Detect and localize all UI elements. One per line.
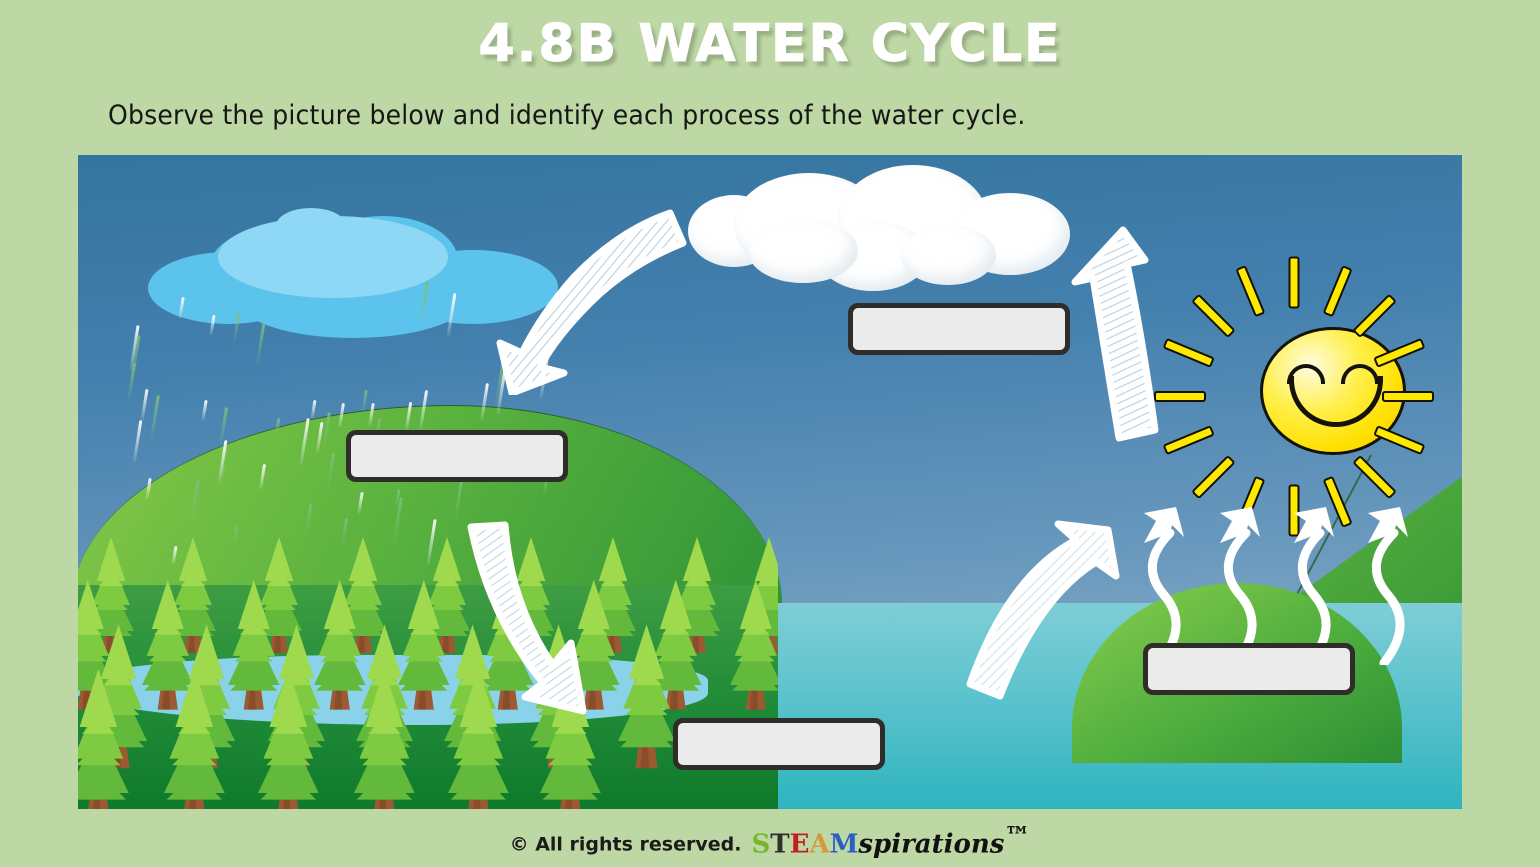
footer: © All rights reserved.STEAMspirations™ bbox=[0, 822, 1540, 859]
logo-letter-s: S bbox=[751, 829, 770, 859]
sun-icon bbox=[1228, 295, 1428, 495]
sun-ray bbox=[1382, 391, 1434, 402]
arrow-evaporation-to-condensation bbox=[1063, 220, 1203, 450]
instruction-text: Observe the picture below and identify e… bbox=[108, 100, 1026, 131]
copyright-text: © All rights reserved. bbox=[510, 833, 742, 855]
sun-ray bbox=[1352, 294, 1397, 339]
sun-smile bbox=[1289, 376, 1383, 427]
answer-box-condensation[interactable] bbox=[848, 303, 1070, 355]
logo-letter-a: A bbox=[809, 829, 829, 859]
water-cycle-diagram bbox=[78, 155, 1462, 809]
logo-letter-t: T bbox=[770, 829, 789, 859]
logo-letter-e: E bbox=[790, 829, 810, 859]
worksheet-page: 4.8B WATER CYCLE Observe the picture bel… bbox=[0, 0, 1540, 867]
sun-ray bbox=[1373, 425, 1425, 455]
vapor-squiggles bbox=[1118, 485, 1438, 665]
arrow-runoff bbox=[433, 515, 633, 745]
page-title: 4.8B WATER CYCLE bbox=[0, 14, 1540, 74]
logo-letter-m: M bbox=[830, 829, 859, 859]
answer-box-evaporation[interactable] bbox=[1143, 643, 1355, 695]
answer-box-precipitation[interactable] bbox=[346, 430, 568, 482]
steamspirations-logo: STEAMspirations™ bbox=[751, 822, 1030, 859]
logo-trademark: ™ bbox=[1004, 822, 1030, 852]
sun-ray bbox=[1289, 257, 1300, 309]
arrow-condensation-to-precipitation bbox=[478, 195, 698, 395]
answer-box-runoff[interactable] bbox=[673, 718, 885, 770]
logo-wordmark: spirations bbox=[858, 829, 1004, 859]
white-cloud bbox=[688, 165, 1088, 285]
